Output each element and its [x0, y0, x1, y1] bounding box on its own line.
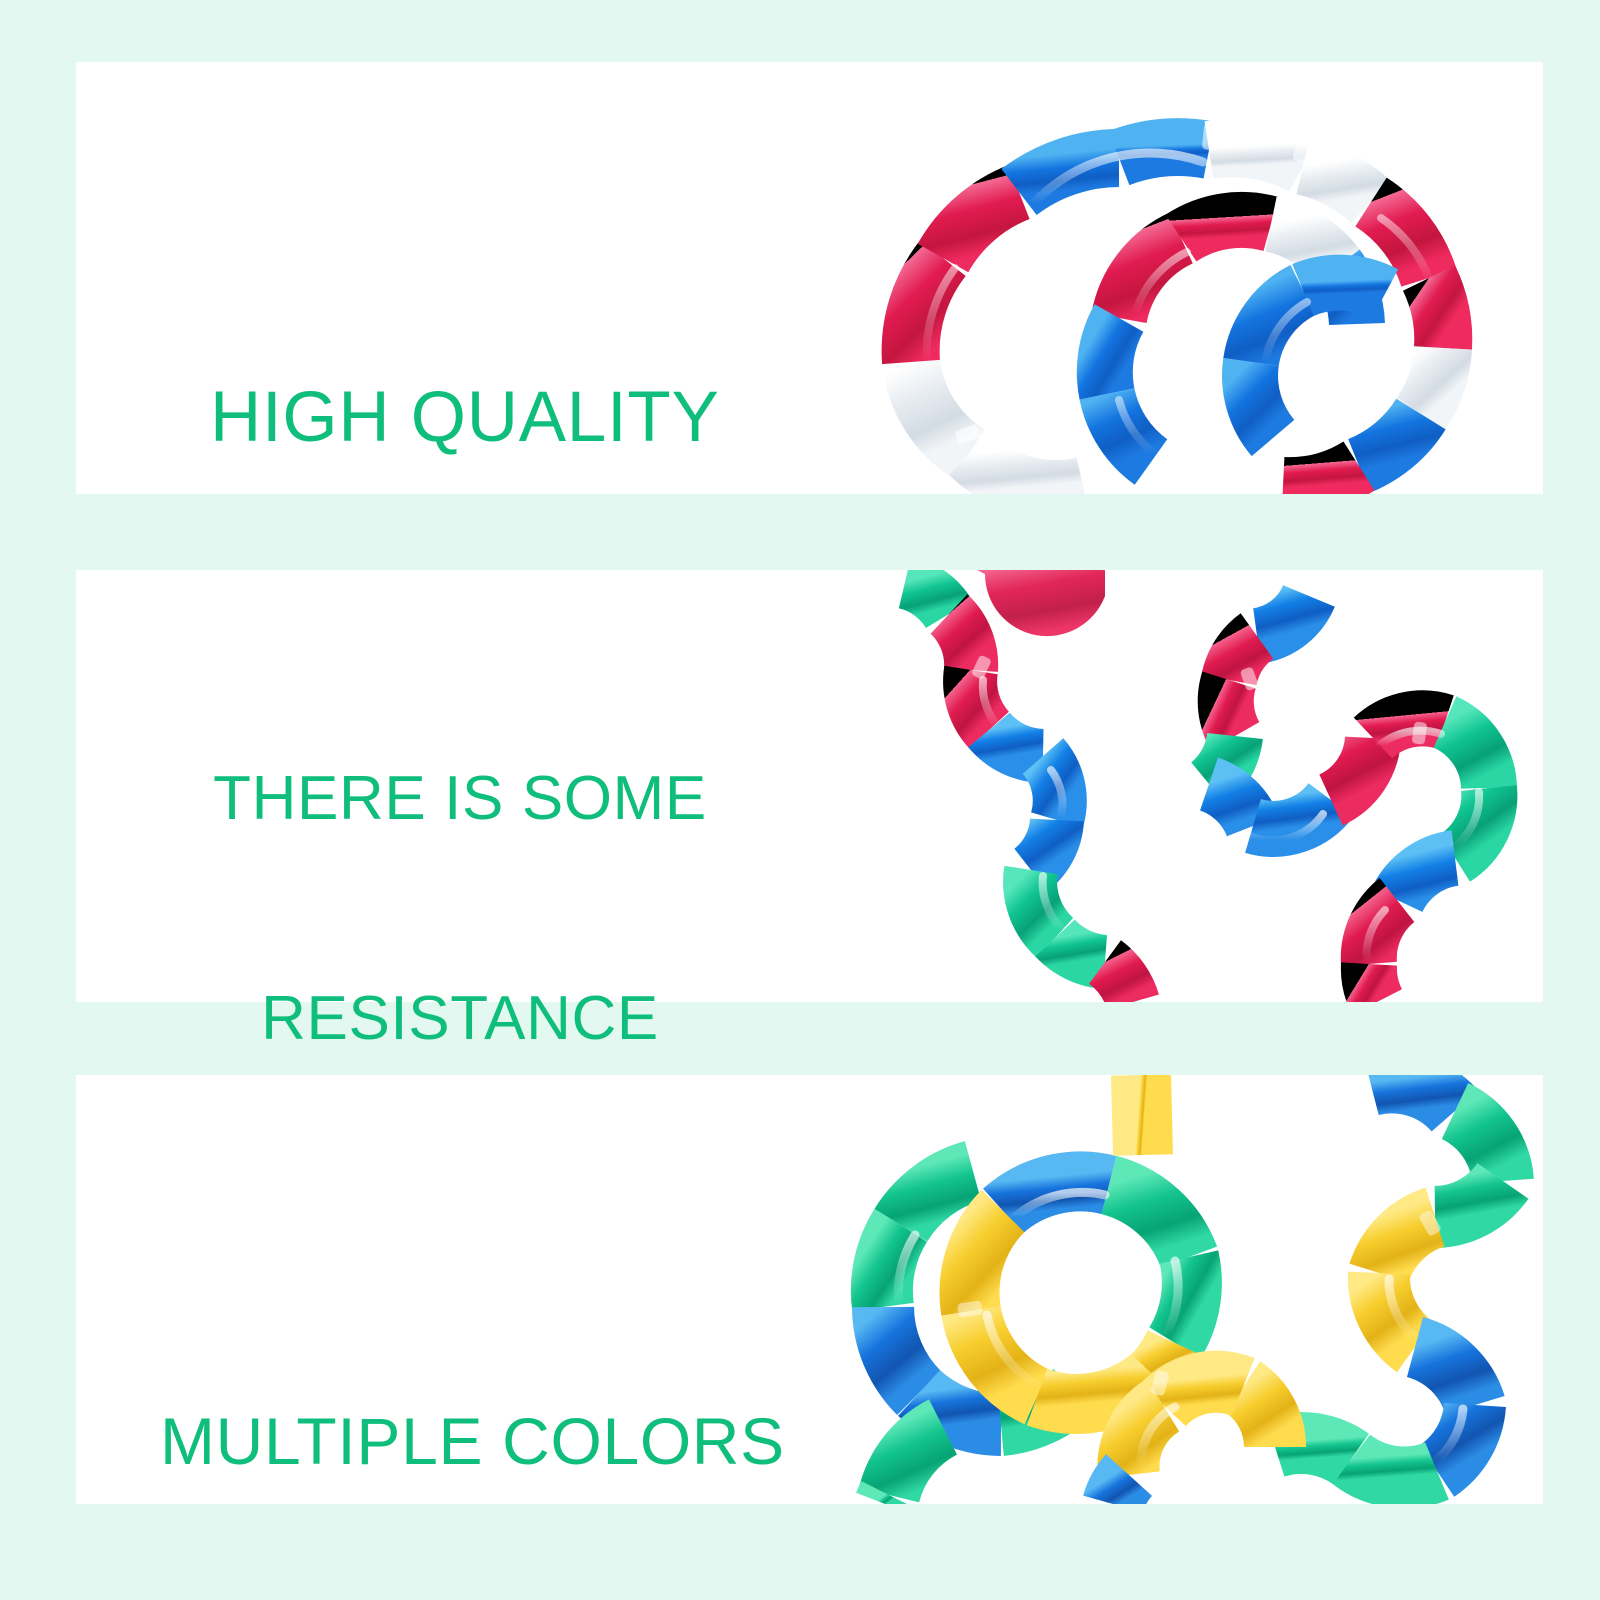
tangle-toy-image-high-quality — [851, 62, 1543, 494]
panel-1-caption: HIGH QUALITY — [210, 208, 720, 494]
infographic-page: HIGH QUALITY — [0, 0, 1600, 1600]
tangle-toy-image-multiple-colors — [823, 1075, 1543, 1504]
panel-3-caption: MULTIPLE COLORS — [160, 1247, 785, 1504]
tangle-toy-image-some-resistance — [857, 570, 1543, 1002]
panel-1-caption-line-1: HIGH QUALITY — [210, 376, 720, 460]
feature-panel-high-quality: HIGH QUALITY — [76, 62, 1543, 494]
feature-panel-some-resistance-art — [76, 570, 1543, 1002]
panel-3-caption-line-1: MULTIPLE COLORS — [160, 1403, 785, 1481]
feature-panel-multiple-colors: MULTIPLE COLORS — [76, 1075, 1543, 1504]
